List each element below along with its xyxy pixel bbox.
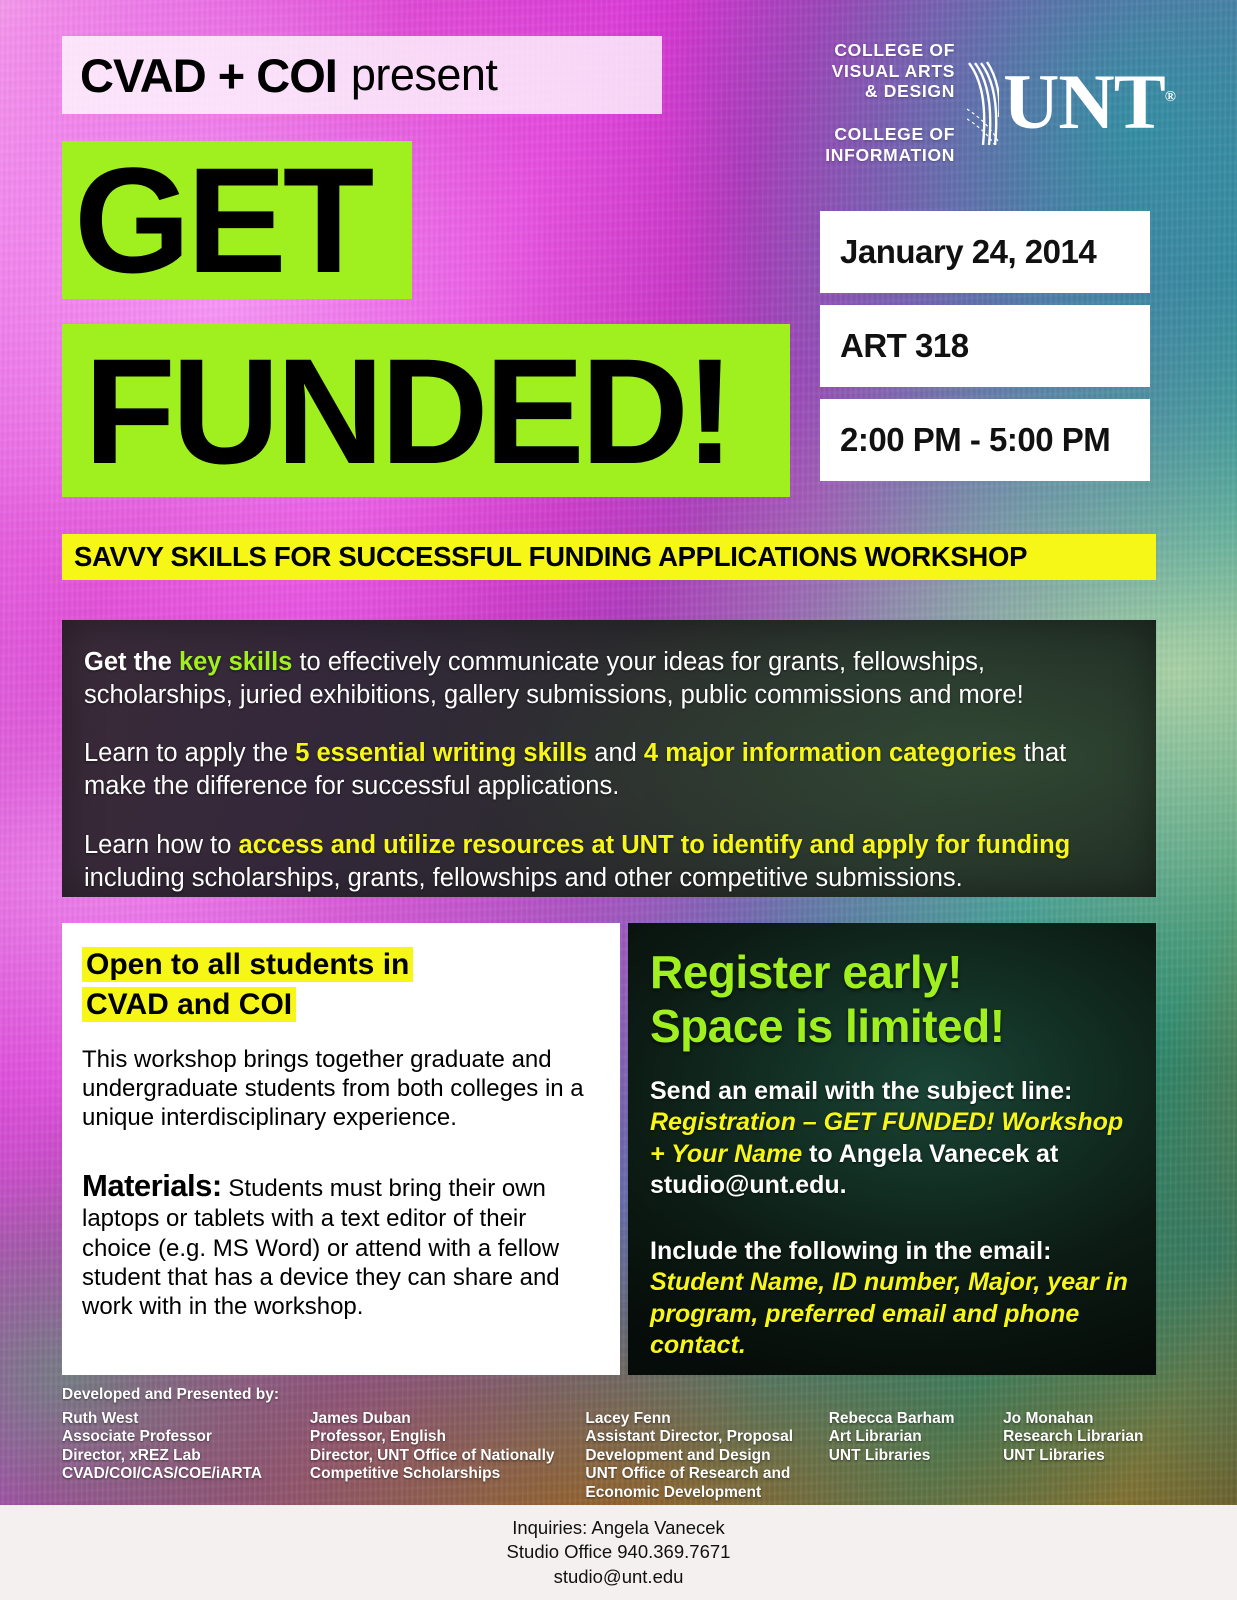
registration-include-block: Include the following in the email: Stud… [650, 1236, 1136, 1362]
unt-logo: UNT® [963, 57, 1175, 149]
college-spacer [825, 102, 955, 124]
credit-line-3: Development and Design [585, 1447, 810, 1466]
headline-funded-text: FUNDED! [62, 336, 731, 486]
poster-root: CVAD + COI present COLLEGE OF VISUAL ART… [0, 0, 1237, 1600]
desc-p1-lead: Get the [84, 648, 179, 676]
credit-line-3: UNT Libraries [829, 1447, 985, 1466]
registration-heading: Register early! Space is limited! [650, 945, 1136, 1054]
event-location-box: ART 318 [820, 305, 1150, 387]
description-panel: Get the key skills to effectively commun… [62, 620, 1156, 897]
description-paragraph-3: Learn how to access and utilize resource… [84, 829, 1130, 895]
credit-person: Lacey Fenn Assistant Director, Proposal … [585, 1410, 828, 1503]
credit-line-2: Research Librarian [1003, 1428, 1164, 1447]
college-visual-arts-line2: VISUAL ARTS [825, 61, 955, 82]
footer-email: studio@unt.edu [554, 1565, 684, 1589]
desc-p3-lead: Learn how to [84, 831, 239, 859]
headline-funded: FUNDED! [62, 324, 790, 497]
eligibility-heading: Open to all students in CVAD and COI [82, 945, 600, 1025]
registration-heading-line2: Space is limited! [650, 1000, 1005, 1052]
college-names: COLLEGE OF VISUAL ARTS & DESIGN COLLEGE … [825, 40, 963, 165]
description-paragraph-2: Learn to apply the 5 essential writing s… [84, 737, 1130, 803]
registration-include-label: Include the following in the email: [650, 1237, 1051, 1265]
workshop-subtitle-text: SAVVY SKILLS FOR SUCCESSFUL FUNDING APPL… [62, 541, 1027, 573]
eligibility-heading-line2: CVAD and COI [82, 987, 296, 1022]
presenters-banner: CVAD + COI present [62, 36, 662, 114]
materials-block: Materials: Students must bring their own… [82, 1167, 600, 1322]
credit-person: Rebecca Barham Art Librarian UNT Librari… [829, 1410, 1003, 1503]
credits-block: Developed and Presented by: Ruth West As… [62, 1386, 1182, 1503]
credit-line-2: Art Librarian [829, 1428, 985, 1447]
event-location-text: ART 318 [820, 327, 969, 365]
footer-inquiries: Inquiries: Angela Vanecek [512, 1516, 725, 1540]
college-information-line2: INFORMATION [825, 145, 955, 166]
desc-p2-lead: Learn to apply the [84, 739, 295, 767]
credit-line-2: Assistant Director, Proposal [585, 1428, 810, 1447]
credit-line-2: Professor, English [310, 1428, 568, 1447]
presenters-organizations: CVAD + COI [62, 48, 337, 103]
unt-wordmark-text: UNT [1003, 58, 1165, 145]
registration-include-items: Student Name, ID number, Major, year in … [650, 1268, 1128, 1359]
desc-p2-mid: and [587, 739, 644, 767]
event-date-text: January 24, 2014 [820, 233, 1096, 271]
headline-get: GET [62, 141, 412, 299]
event-date-box: January 24, 2014 [820, 211, 1150, 293]
desc-p3-highlight: access and utilize resources at UNT to i… [239, 831, 1071, 859]
desc-p2-highlight-1: 5 essential writing skills [295, 739, 587, 767]
credit-name: Jo Monahan [1003, 1410, 1164, 1429]
college-visual-arts-line3: & DESIGN [825, 81, 955, 102]
presenters-verb: present [351, 49, 498, 101]
materials-label: Materials: [82, 1168, 222, 1203]
credit-line-4: Competitive Scholarships [310, 1465, 568, 1484]
headline-get-text: GET [62, 145, 370, 295]
credits-columns: Ruth West Associate Professor Director, … [62, 1410, 1182, 1503]
registration-panel: Register early! Space is limited! Send a… [628, 923, 1156, 1375]
credit-line-3: Director, UNT Office of Nationally [310, 1447, 568, 1466]
eligibility-panel: Open to all students in CVAD and COI Thi… [62, 923, 620, 1375]
credit-name: Ruth West [62, 1410, 292, 1429]
registration-heading-line1: Register early! [650, 946, 962, 998]
unt-logo-lockup: COLLEGE OF VISUAL ARTS & DESIGN COLLEGE … [825, 40, 1175, 165]
desc-p1-highlight: key skills [179, 648, 292, 676]
credit-line-2: Associate Professor [62, 1428, 292, 1447]
registered-trademark-icon: ® [1165, 89, 1175, 105]
registration-instructions: Send an email with the subject line: Reg… [650, 1076, 1136, 1202]
college-visual-arts-line1: COLLEGE OF [825, 40, 955, 61]
description-paragraph-1: Get the key skills to effectively commun… [84, 646, 1130, 712]
credit-name: James Duban [310, 1410, 568, 1429]
footer-contact: Inquiries: Angela Vanecek Studio Office … [0, 1505, 1237, 1600]
workshop-subtitle-banner: SAVVY SKILLS FOR SUCCESSFUL FUNDING APPL… [62, 534, 1156, 580]
credits-lead: Developed and Presented by: [62, 1386, 1182, 1405]
credit-person: Jo Monahan Research Librarian UNT Librar… [1003, 1410, 1182, 1503]
event-time-text: 2:00 PM - 5:00 PM [820, 421, 1110, 459]
credit-person: Ruth West Associate Professor Director, … [62, 1410, 310, 1503]
credit-line-4: UNT Office of Research and [585, 1465, 810, 1484]
eligibility-heading-line1: Open to all students in [82, 947, 413, 982]
eligibility-body: This workshop brings together graduate a… [82, 1045, 600, 1133]
college-information-line1: COLLEGE OF [825, 124, 955, 145]
credit-line-4: CVAD/COI/CAS/COE/iARTA [62, 1465, 292, 1484]
unt-eagle-icon [963, 57, 1003, 149]
desc-p3-tail: including scholarships, grants, fellowsh… [84, 864, 963, 892]
credit-person: James Duban Professor, English Director,… [310, 1410, 586, 1503]
credit-line-3: UNT Libraries [1003, 1447, 1164, 1466]
desc-p2-highlight-2: 4 major information categories [644, 739, 1017, 767]
credit-line-5: Economic Development [585, 1484, 810, 1503]
credit-name: Rebecca Barham [829, 1410, 985, 1429]
event-time-box: 2:00 PM - 5:00 PM [820, 399, 1150, 481]
credit-line-3: Director, xREZ Lab [62, 1447, 292, 1466]
credit-name: Lacey Fenn [585, 1410, 810, 1429]
registration-send-label: Send an email with the subject line: [650, 1077, 1072, 1105]
footer-phone: Studio Office 940.369.7671 [507, 1540, 731, 1564]
unt-wordmark: UNT® [1003, 71, 1175, 133]
